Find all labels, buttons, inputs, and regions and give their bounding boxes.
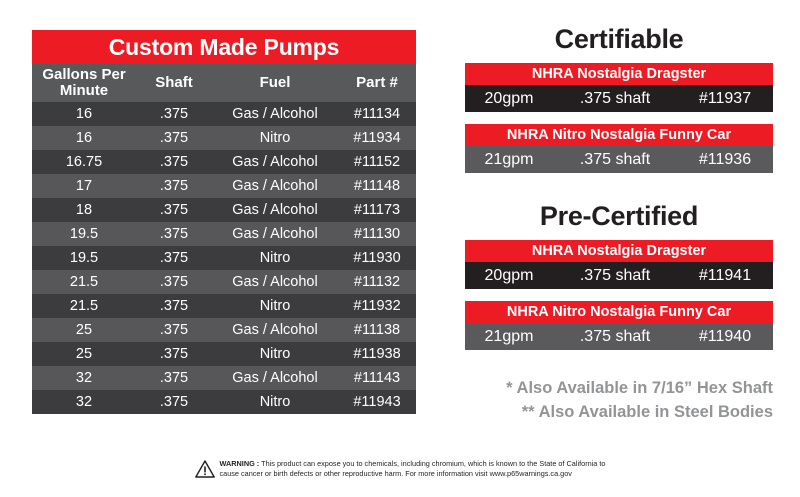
cell-part: #11138 <box>338 322 416 338</box>
precert-block-funny-car: NHRA Nitro Nostalgia Funny Car 21gpm .37… <box>465 301 773 350</box>
cert-row: 21gpm .375 shaft #11940 <box>465 323 773 350</box>
cell-gpm: 25 <box>32 322 136 338</box>
cell-part: #11173 <box>338 202 416 218</box>
table-row: 16 .375 Nitro #11934 <box>32 126 416 150</box>
column-header-fuel: Fuel <box>212 75 338 91</box>
cell-gpm: 16.75 <box>32 154 136 170</box>
cell-fuel: Gas / Alcohol <box>212 226 338 242</box>
cell-fuel: Gas / Alcohol <box>212 106 338 122</box>
cell-fuel: Gas / Alcohol <box>212 322 338 338</box>
cell-part: #11940 <box>677 328 773 346</box>
cell-fuel: Nitro <box>212 346 338 362</box>
table-row: 21.5 .375 Gas / Alcohol #11132 <box>32 270 416 294</box>
warning-triangle-icon <box>195 460 215 483</box>
cell-gpm: 20gpm <box>465 267 553 285</box>
cell-part: #11937 <box>677 90 773 108</box>
cell-fuel: Gas / Alcohol <box>212 370 338 386</box>
cell-part: #11130 <box>338 226 416 242</box>
spacer <box>465 179 773 201</box>
table-header-row: Gallons PerMinute Shaft Fuel Part # <box>32 64 416 102</box>
cell-gpm: 16 <box>32 130 136 146</box>
column-header-part: Part # <box>338 75 416 91</box>
table-row: 16 .375 Gas / Alcohol #11134 <box>32 102 416 126</box>
cell-part: #11932 <box>338 298 416 314</box>
cell-shaft: .375 shaft <box>553 90 677 108</box>
cell-fuel: Nitro <box>212 394 338 410</box>
cell-gpm: 21gpm <box>465 328 553 346</box>
cert-block-dragster: NHRA Nostalgia Dragster 20gpm .375 shaft… <box>465 63 773 112</box>
cell-gpm: 25 <box>32 346 136 362</box>
footnote-steel-bodies: ** Also Available in Steel Bodies <box>465 400 773 424</box>
table-row: 18 .375 Gas / Alcohol #11173 <box>32 198 416 222</box>
cell-shaft: .375 <box>136 322 212 338</box>
banner-label: NHRA Nitro Nostalgia Funny Car <box>465 124 773 146</box>
cell-shaft: .375 <box>136 226 212 242</box>
table-row: 32 .375 Nitro #11943 <box>32 390 416 414</box>
section-heading-certifiable: Certifiable <box>465 24 773 55</box>
cell-part: #11934 <box>338 130 416 146</box>
table-row: 21.5 .375 Nitro #11932 <box>32 294 416 318</box>
table-row: 25 .375 Nitro #11938 <box>32 342 416 366</box>
table-row: 19.5 .375 Nitro #11930 <box>32 246 416 270</box>
cell-part: #11143 <box>338 370 416 386</box>
cell-gpm: 19.5 <box>32 226 136 242</box>
cert-row: 20gpm .375 shaft #11941 <box>465 262 773 289</box>
cell-shaft: .375 <box>136 178 212 194</box>
custom-made-pumps-table: Custom Made Pumps Gallons PerMinute Shaf… <box>32 30 416 414</box>
cell-shaft: .375 <box>136 250 212 266</box>
table-title: Custom Made Pumps <box>32 30 416 64</box>
cell-part: #11938 <box>338 346 416 362</box>
cell-part: #11930 <box>338 250 416 266</box>
cell-shaft: .375 <box>136 394 212 410</box>
banner-label: NHRA Nostalgia Dragster <box>465 240 773 262</box>
cell-shaft: .375 <box>136 154 212 170</box>
cell-part: #11936 <box>677 151 773 169</box>
section-heading-pre-certified: Pre-Certified <box>465 201 773 232</box>
cell-gpm: 16 <box>32 106 136 122</box>
cell-gpm: 21.5 <box>32 298 136 314</box>
cell-fuel: Gas / Alcohol <box>212 202 338 218</box>
cell-shaft: .375 shaft <box>553 328 677 346</box>
footnote-hex-shaft: * Also Available in 7/16” Hex Shaft <box>465 376 773 400</box>
cell-gpm: 32 <box>32 370 136 386</box>
column-header-shaft: Shaft <box>136 75 212 91</box>
certification-tables: Certifiable NHRA Nostalgia Dragster 20gp… <box>465 24 773 424</box>
cell-shaft: .375 <box>136 106 212 122</box>
cell-gpm: 21.5 <box>32 274 136 290</box>
cell-shaft: .375 <box>136 346 212 362</box>
cell-part: #11943 <box>338 394 416 410</box>
banner-label: NHRA Nitro Nostalgia Funny Car <box>465 301 773 323</box>
warning-line1: This product can expose you to chemicals… <box>259 459 605 468</box>
precert-block-dragster: NHRA Nostalgia Dragster 20gpm .375 shaft… <box>465 240 773 289</box>
cell-gpm: 21gpm <box>465 151 553 169</box>
cert-row: 21gpm .375 shaft #11936 <box>465 146 773 173</box>
table-row: 32 .375 Gas / Alcohol #11143 <box>32 366 416 390</box>
cell-fuel: Nitro <box>212 130 338 146</box>
cell-gpm: 19.5 <box>32 250 136 266</box>
cell-shaft: .375 <box>136 202 212 218</box>
table-row: 25 .375 Gas / Alcohol #11138 <box>32 318 416 342</box>
cell-shaft: .375 <box>136 274 212 290</box>
cell-part: #11134 <box>338 106 416 122</box>
footnotes: * Also Available in 7/16” Hex Shaft ** A… <box>465 376 773 424</box>
cell-gpm: 18 <box>32 202 136 218</box>
table-row: 19.5 .375 Gas / Alcohol #11130 <box>32 222 416 246</box>
cell-fuel: Gas / Alcohol <box>212 274 338 290</box>
cell-part: #11152 <box>338 154 416 170</box>
cell-shaft: .375 <box>136 130 212 146</box>
cell-fuel: Nitro <box>212 298 338 314</box>
cell-fuel: Gas / Alcohol <box>212 178 338 194</box>
cell-gpm: 32 <box>32 394 136 410</box>
column-header-gpm: Gallons PerMinute <box>32 67 136 99</box>
cert-block-funny-car: NHRA Nitro Nostalgia Funny Car 21gpm .37… <box>465 124 773 173</box>
cell-shaft: .375 shaft <box>553 151 677 169</box>
cert-row: 20gpm .375 shaft #11937 <box>465 85 773 112</box>
prop65-warning: WARNING : This product can expose you to… <box>0 459 800 483</box>
cell-shaft: .375 <box>136 298 212 314</box>
cell-shaft: .375 shaft <box>553 267 677 285</box>
cell-part: #11148 <box>338 178 416 194</box>
cell-gpm: 20gpm <box>465 90 553 108</box>
banner-label: NHRA Nostalgia Dragster <box>465 63 773 85</box>
cell-gpm: 17 <box>32 178 136 194</box>
warning-label: WARNING : <box>220 459 260 468</box>
cell-fuel: Nitro <box>212 250 338 266</box>
cell-fuel: Gas / Alcohol <box>212 154 338 170</box>
cell-part: #11132 <box>338 274 416 290</box>
table-row: 17 .375 Gas / Alcohol #11148 <box>32 174 416 198</box>
warning-line2: cause cancer or birth defects or other r… <box>220 469 572 478</box>
cell-part: #11941 <box>677 267 773 285</box>
table-row: 16.75 .375 Gas / Alcohol #11152 <box>32 150 416 174</box>
cell-shaft: .375 <box>136 370 212 386</box>
warning-text: WARNING : This product can expose you to… <box>220 459 606 478</box>
